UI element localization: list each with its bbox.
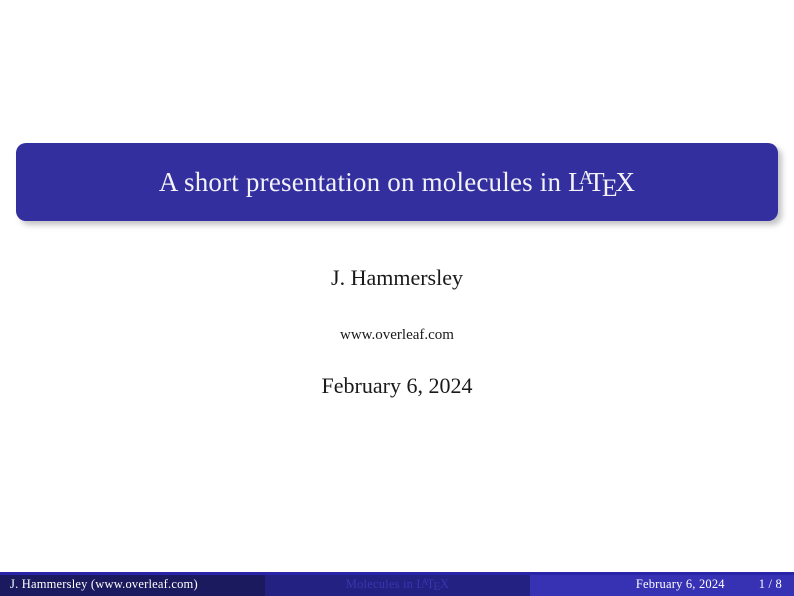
- footer-date-page-segment: February 6, 2024 1 / 8: [530, 572, 794, 596]
- slide-title-box: A short presentation on molecules in LAT…: [16, 143, 778, 221]
- footer-latex-logo-x: X: [440, 577, 449, 591]
- footer-accent-line: [0, 572, 794, 575]
- slide-author: J. Hammersley: [0, 265, 794, 291]
- footer-latex-logo-a: A: [422, 577, 429, 587]
- slide-date: February 6, 2024: [0, 373, 794, 399]
- presentation-slide: A short presentation on molecules in LAT…: [0, 0, 794, 596]
- footer-title-segment: Molecules in LATEX: [265, 572, 530, 596]
- footer-latex-logo: LATEX: [416, 577, 449, 591]
- slide-title: A short presentation on molecules in LAT…: [159, 167, 635, 198]
- latex-logo-a: A: [579, 167, 593, 189]
- footer-title-prefix: Molecules in: [346, 577, 417, 591]
- footer-author-label: J. Hammersley (www.overleaf.com): [10, 577, 198, 592]
- slide-footer: J. Hammersley (www.overleaf.com) Molecul…: [0, 572, 794, 596]
- latex-logo: LATEX: [568, 167, 635, 198]
- footer-latex-logo-e: E: [433, 579, 440, 593]
- slide-institute: www.overleaf.com: [0, 327, 794, 344]
- slide-title-prefix: A short presentation on molecules in: [159, 167, 568, 197]
- latex-logo-e: E: [602, 173, 618, 202]
- footer-title-label: Molecules in LATEX: [346, 577, 449, 592]
- latex-logo-x: X: [615, 167, 635, 197]
- footer-date-label: February 6, 2024: [636, 577, 725, 592]
- footer-author-segment: J. Hammersley (www.overleaf.com): [0, 572, 265, 596]
- footer-page-number: 1 / 8: [759, 577, 782, 592]
